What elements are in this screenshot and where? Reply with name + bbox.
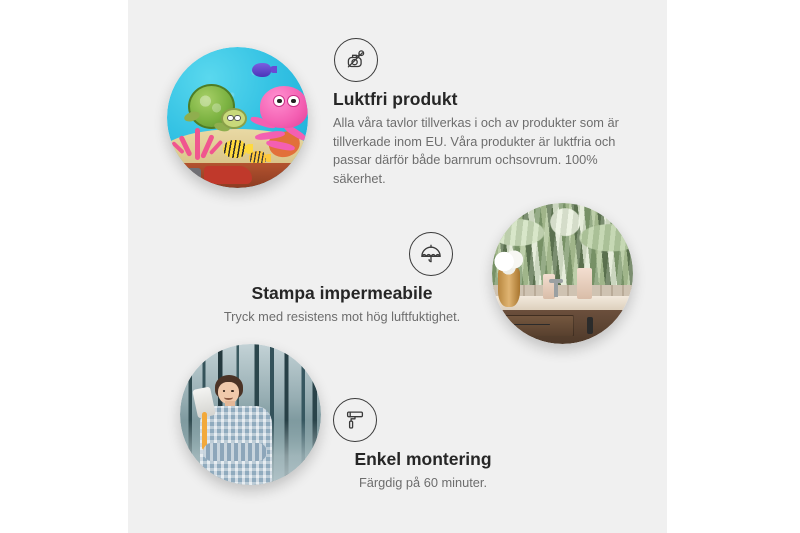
yellow-striped-fish [223,140,246,158]
face [218,382,239,404]
turtle-eye [234,115,241,122]
octopus-eye [287,95,300,108]
eye [223,390,226,392]
product-feature-panel: Luktfri produkt Alla våra tavlor tillver… [0,0,800,533]
smile [224,395,233,400]
turtle-eye [227,115,234,122]
feature-3-icon-wrap [323,398,523,442]
no-odor-perfume-bottle-icon [334,38,378,82]
feature-1-body: Alla våra tavlor tillverkas i och av pro… [333,114,633,189]
pink-octopus [249,86,308,159]
wood-vanity-cabinet [492,310,633,344]
octopus-eye [273,95,286,108]
umbrella-icon [409,232,453,276]
feature-2-title: Stampa impermeabile [222,283,462,305]
cabinet-drawer [499,315,574,337]
faucet [554,279,558,297]
eye [231,390,234,392]
feature-1-title: Luktfri produkt [333,89,633,111]
white-flowers [493,250,524,275]
soap-bottle [577,268,593,299]
product-image-underwater-kids-scene[interactable] [167,47,308,188]
cabinet-handle [587,317,593,334]
folded-arms [203,443,267,461]
feature-block-odourless: Luktfri produkt Alla våra tavlor tillver… [333,38,633,189]
feature-1-icon-wrap [333,38,633,82]
octopus-head [260,86,308,127]
feature-3-body: Färgdig på 60 minuter. [323,474,523,493]
paint-roller-icon [333,398,377,442]
cabinet-handle [617,317,623,334]
forest-scene-art [180,344,321,485]
room-mockup-foreground [167,163,308,188]
octopus-tentacle [265,139,294,152]
feature-block-waterproof-print: Stampa impermeabile Tryck med resistens … [222,232,462,327]
product-image-bathroom-botanical-wallpaper[interactable] [492,203,633,344]
feature-2-icon-wrap [222,232,462,276]
turtle-head [221,108,247,129]
feature-block-easy-assembly: Enkel montering Färgdig på 60 minuter. [323,398,523,493]
feature-2-body: Tryck med resistens mot hög luftfuktighe… [222,308,462,327]
woman-installer [197,375,279,485]
product-image-woman-with-paint-roller-forest[interactable] [180,344,321,485]
underwater-scene-art [167,47,308,188]
bathroom-scene-art [492,203,633,344]
sea-turtle [184,84,246,135]
purple-fish [252,63,272,77]
feature-3-title: Enkel montering [323,449,523,471]
